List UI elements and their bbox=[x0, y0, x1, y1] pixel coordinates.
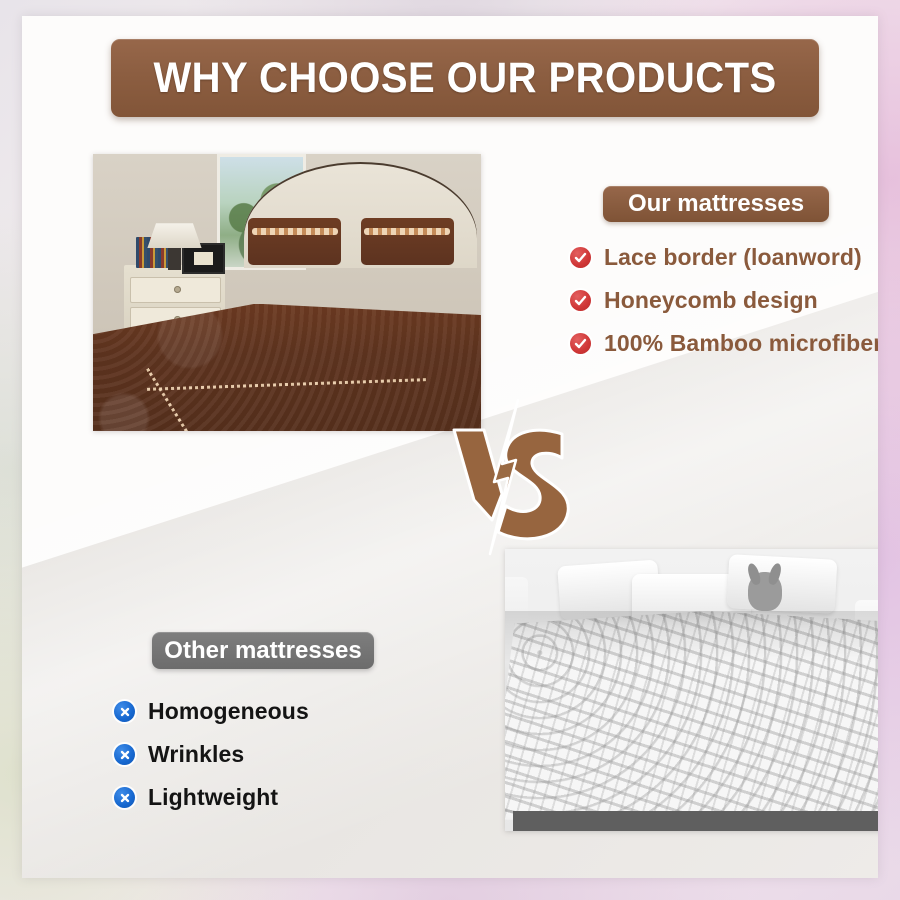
versus-icon bbox=[446, 408, 586, 558]
photo-pillow bbox=[727, 555, 837, 614]
photo-stuffed-toy bbox=[748, 572, 783, 611]
list-item: Lace border (loanword) bbox=[570, 244, 878, 271]
other-mattress-photo bbox=[505, 549, 878, 831]
our-mattress-photo bbox=[93, 154, 481, 431]
list-item-label: Wrinkles bbox=[148, 741, 244, 768]
list-item-label: Honeycomb design bbox=[604, 287, 818, 314]
list-item-label: Lightweight bbox=[148, 784, 278, 811]
check-circle-icon bbox=[570, 290, 591, 311]
our-mattresses-badge-label: Our mattresses bbox=[628, 190, 804, 218]
our-mattresses-feature-list: Lace border (loanword) Honeycomb design … bbox=[570, 244, 878, 357]
page-title: WHY CHOOSE OUR PRODUCTS bbox=[153, 54, 776, 103]
cross-circle-icon bbox=[114, 787, 135, 808]
list-item: Wrinkles bbox=[114, 741, 444, 768]
list-item-label: Lace border (loanword) bbox=[604, 244, 862, 271]
other-mattresses-badge-label: Other mattresses bbox=[164, 637, 361, 665]
photo-lamp-base bbox=[168, 248, 180, 270]
photo-bed-base bbox=[513, 811, 878, 831]
list-item: Homogeneous bbox=[114, 698, 444, 725]
our-mattresses-badge: Our mattresses bbox=[603, 186, 829, 222]
list-item: 100% Bamboo microfiber bbox=[570, 330, 878, 357]
nightstand-drawer bbox=[130, 277, 221, 303]
check-circle-icon bbox=[570, 247, 591, 268]
page-title-banner: WHY CHOOSE OUR PRODUCTS bbox=[111, 39, 819, 117]
other-mattresses-badge: Other mattresses bbox=[152, 632, 374, 669]
check-circle-icon bbox=[570, 333, 591, 354]
photo-pillow bbox=[361, 218, 454, 265]
cross-circle-icon bbox=[114, 744, 135, 765]
poster-card: WHY CHOOSE OUR PRODUCTS bbox=[22, 16, 878, 878]
versus-emblem bbox=[446, 408, 586, 558]
photo-pillow bbox=[248, 218, 341, 265]
list-item-label: 100% Bamboo microfiber bbox=[604, 330, 878, 357]
photo-duvet-shadow bbox=[505, 611, 878, 662]
product-comparison-poster: WHY CHOOSE OUR PRODUCTS bbox=[0, 0, 900, 900]
list-item: Honeycomb design bbox=[570, 287, 878, 314]
list-item-label: Homogeneous bbox=[148, 698, 309, 725]
photo-lamp-shade bbox=[147, 223, 201, 248]
cross-circle-icon bbox=[114, 701, 135, 722]
photo-lace-border bbox=[146, 368, 211, 431]
list-item: Lightweight bbox=[114, 784, 444, 811]
other-mattresses-feature-list: Homogeneous Wrinkles Lightweight bbox=[114, 698, 444, 811]
photo-lace-border bbox=[147, 378, 426, 392]
